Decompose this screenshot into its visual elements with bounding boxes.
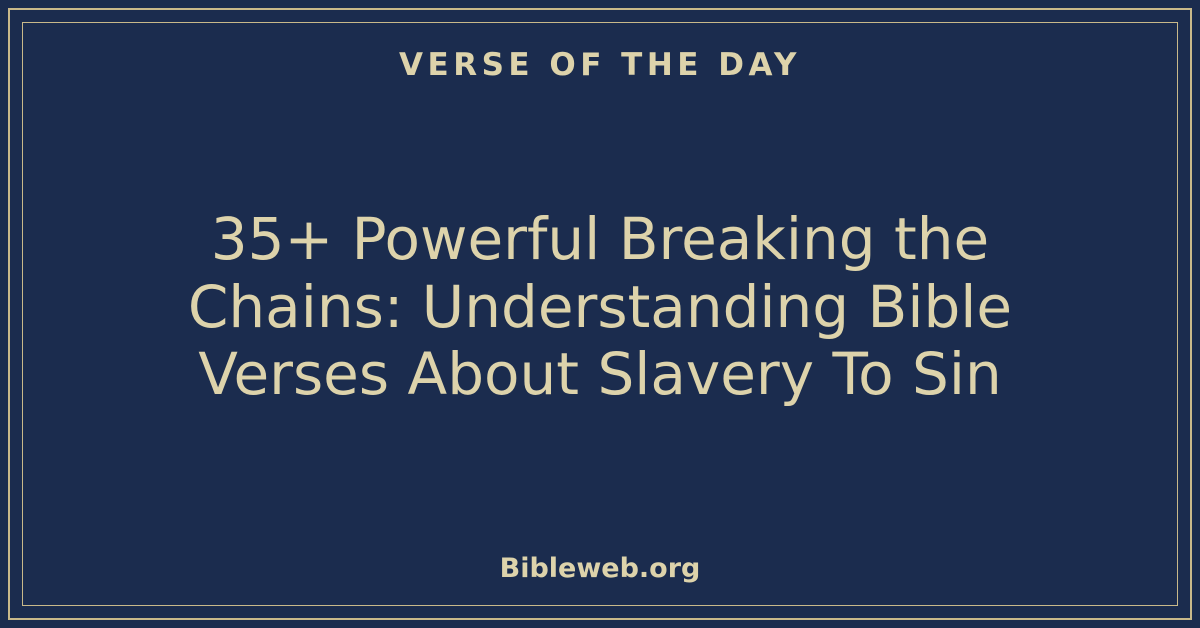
site-attribution: Bibleweb.org [500, 553, 701, 584]
page-title: 35+ Powerful Breaking the Chains: Unders… [95, 206, 1105, 410]
eyebrow-label: VERSE OF THE DAY [399, 48, 801, 82]
card-content: VERSE OF THE DAY 35+ Powerful Breaking t… [0, 0, 1200, 628]
verse-of-the-day-card: VERSE OF THE DAY 35+ Powerful Breaking t… [0, 0, 1200, 628]
title-container: 35+ Powerful Breaking the Chains: Unders… [0, 82, 1200, 553]
